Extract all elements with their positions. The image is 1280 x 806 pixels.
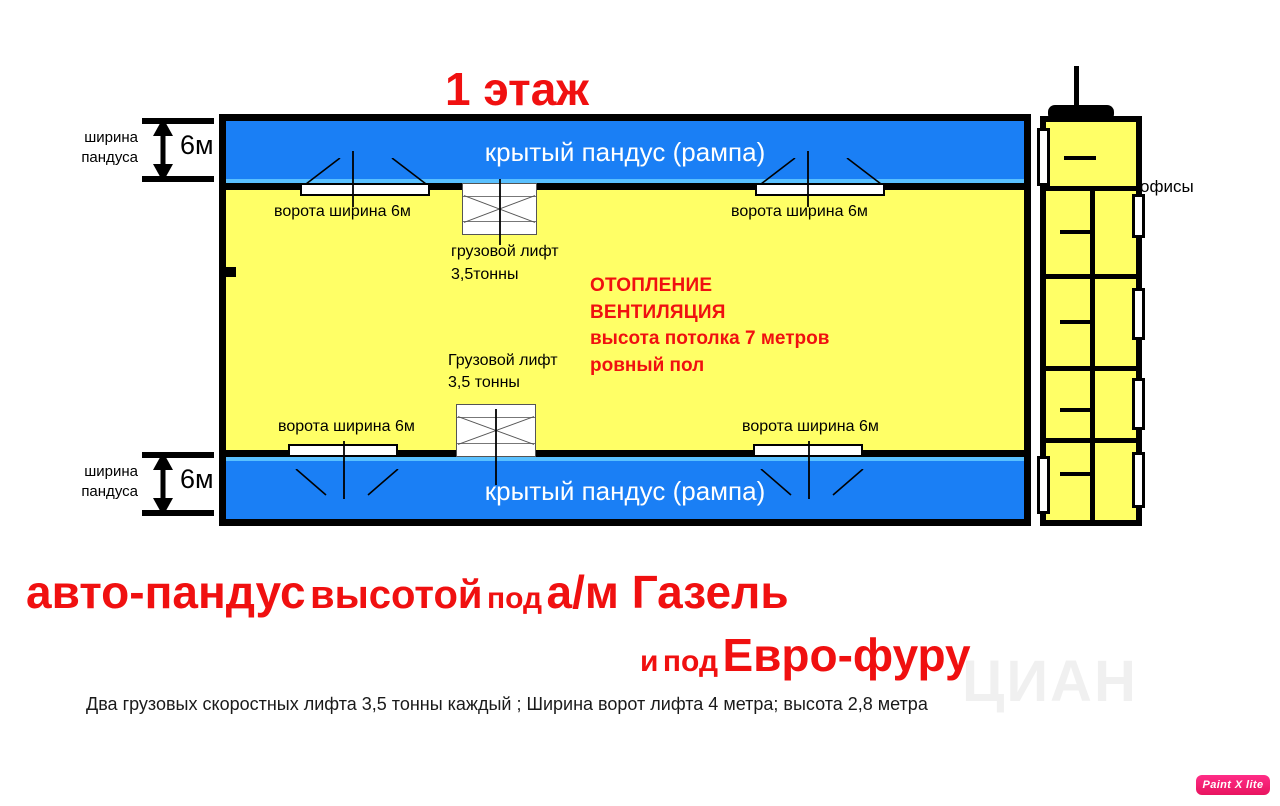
- headline-auto-ramp: авто-пандус: [26, 566, 306, 618]
- gate-pointer-bottom-right: [807, 441, 811, 499]
- elevator-label-top: грузовой лифт 3,5тонны: [451, 241, 559, 286]
- spec-ceiling-height: высота потолка 7 метров: [590, 326, 829, 353]
- gate-leader-lines-bottom-left: [282, 469, 412, 497]
- gate-leader-lines-top-right: [747, 158, 897, 186]
- dimension-arrow-vertical: [150, 452, 176, 516]
- office-door-5: [1060, 472, 1092, 476]
- gate-label-bottom-left: ворота ширина 6м: [278, 418, 415, 436]
- elevator-label-bottom-line1: Грузовой лифт: [448, 350, 558, 373]
- gate-label-top-right: ворота ширина 6м: [731, 203, 868, 221]
- dimension-label-bottom: ширина пандуса: [60, 462, 138, 503]
- office-door-1: [1064, 156, 1096, 160]
- office-window-6: [1037, 456, 1050, 514]
- gate-leader-lines-bottom-right: [747, 469, 877, 497]
- spec-heating: ОТОПЛЕНИЕ: [590, 273, 829, 300]
- gate-pointer-bottom-left: [342, 441, 346, 499]
- warehouse-floor-plan: крытый пандус (рампа) крытый пандус (рам…: [219, 114, 1031, 526]
- gate-pointer-top-right: [806, 151, 810, 207]
- dimension-value-top: 6м: [180, 130, 214, 161]
- elevator-pointer-bottom: [494, 409, 498, 485]
- headline-for-2: под: [663, 645, 718, 678]
- office-window-4: [1132, 452, 1145, 508]
- elevator-label-bottom: Грузовой лифт 3,5 тонны: [448, 350, 558, 395]
- elevator-label-top-line2: 3,5тонны: [451, 264, 559, 287]
- paint-x-lite-badge: Paint X lite: [1196, 775, 1270, 795]
- site-watermark: ЦИАН: [962, 648, 1138, 715]
- dimension-label-line2: пандуса: [60, 148, 138, 168]
- spec-level-floor: ровный пол: [590, 353, 829, 380]
- offices-block: [1040, 116, 1142, 526]
- office-door-3: [1060, 320, 1092, 324]
- headline-gazelle: а/м Газель: [547, 566, 789, 618]
- office-window-3: [1132, 378, 1145, 430]
- office-window-1: [1132, 194, 1145, 238]
- elevator-label-top-line1: грузовой лифт: [451, 241, 559, 264]
- headline-eurotruck: Евро-фуру: [722, 629, 970, 681]
- spec-ventilation: ВЕНТИЛЯЦИЯ: [590, 300, 829, 327]
- office-window-5: [1037, 128, 1050, 186]
- headline-and: и: [640, 645, 658, 678]
- elevator-pointer-top: [498, 179, 502, 245]
- office-corridor-wall: [1090, 186, 1095, 520]
- headline-for-1: под: [487, 582, 542, 615]
- headline-height: высотой: [310, 573, 483, 617]
- facility-specs-text: ОТОПЛЕНИЕ ВЕНТИЛЯЦИЯ высота потолка 7 ме…: [590, 273, 829, 379]
- offices-label: офисы: [1140, 177, 1194, 197]
- office-door-4: [1060, 408, 1092, 412]
- gate-pointer-top-left: [351, 151, 355, 207]
- dimension-label-line2: пандуса: [60, 482, 138, 502]
- elevator-label-bottom-line2: 3,5 тонны: [448, 372, 558, 395]
- dimension-label-line1: ширина: [60, 128, 138, 148]
- office-window-2: [1132, 288, 1145, 340]
- dimension-value-bottom: 6м: [180, 464, 214, 495]
- footer-note: Два грузовых скоростных лифта 3,5 тонны …: [86, 694, 928, 715]
- gate-label-top-left: ворота ширина 6м: [274, 203, 411, 221]
- page-title: 1 этаж: [445, 62, 589, 116]
- dimension-arrow-vertical: [150, 118, 176, 182]
- floor-plan-canvas: 1 этаж ширина пандуса 6м ширина пандуса …: [0, 0, 1280, 806]
- gate-label-bottom-right: ворота ширина 6м: [742, 418, 879, 436]
- headline-line-1: авто-пандус высотой под а/м Газель: [26, 565, 789, 619]
- dimension-label-top: ширина пандуса: [60, 128, 138, 169]
- headline-line-2: и под Евро-фуру: [640, 628, 971, 682]
- wall-marker-icon: [226, 267, 236, 277]
- dimension-label-line1: ширина: [60, 462, 138, 482]
- gate-leader-lines-top-left: [292, 158, 442, 186]
- office-door-2: [1060, 230, 1092, 234]
